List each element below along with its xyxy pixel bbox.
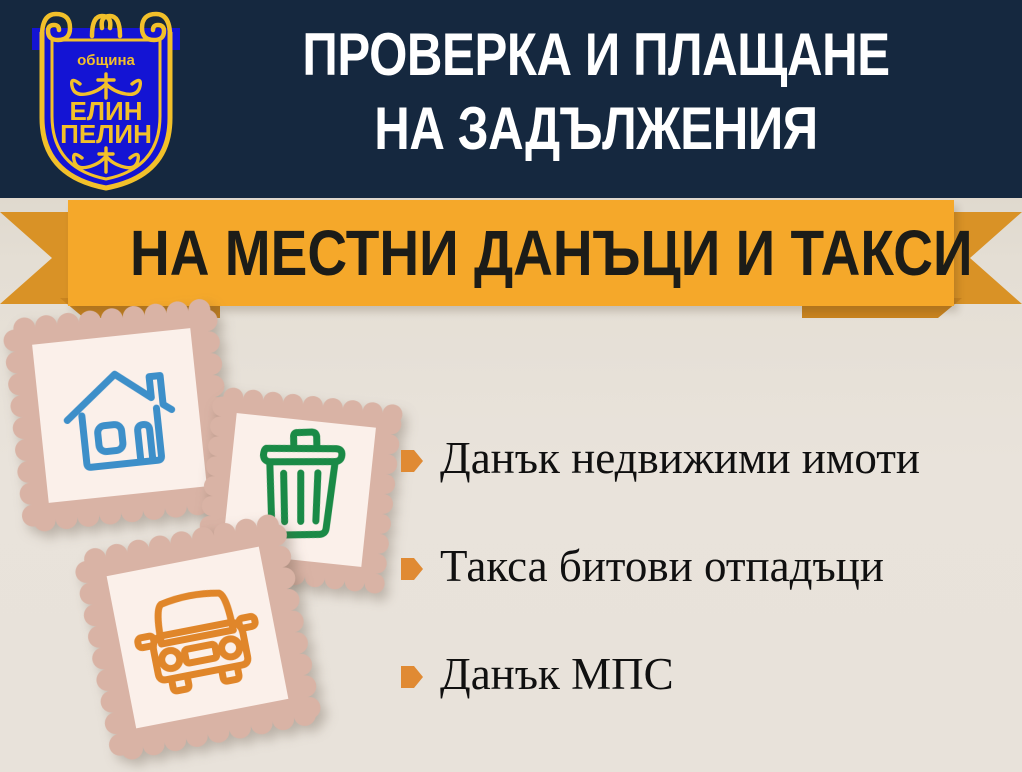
stamp-card-vehicle: [71, 511, 323, 763]
list-item-label: Данък МПС: [440, 642, 674, 706]
ribbon-center-panel: НА МЕСТНИ ДАНЪЦИ И ТАКСИ: [68, 200, 954, 306]
list-item[interactable]: Данък МПС: [400, 642, 1010, 750]
logo-name-line2: ПЕЛИН: [60, 119, 152, 149]
municipality-logo: община ЕЛИН ПЕЛИН: [22, 6, 190, 192]
list-item[interactable]: Данък недвижими имоти: [400, 426, 1010, 534]
arrow-bullet-icon: [400, 664, 424, 690]
list-item-label: Данък недвижими имоти: [440, 426, 920, 490]
page-title: ПРОВЕРКА И ПЛАЩАНЕ НА ЗАДЪЛЖЕНИЯ: [260, 18, 932, 166]
subtitle-ribbon: НА МЕСТНИ ДАНЪЦИ И ТАКСИ: [0, 198, 1022, 318]
page-title-line2: НА ЗАДЪЛЖЕНИЯ: [260, 92, 932, 166]
tax-type-list: Данък недвижими имоти Такса битови отпад…: [400, 426, 1010, 750]
poster-canvas: община ЕЛИН ПЕЛИН ПРОВЕРКА И ПЛАЩАНЕ НА …: [0, 0, 1022, 772]
arrow-bullet-icon: [400, 556, 424, 582]
list-item-label: Такса битови отпадъци: [440, 534, 884, 598]
ribbon-text: НА МЕСТНИ ДАНЪЦИ И ТАКСИ: [130, 214, 892, 292]
page-title-line1: ПРОВЕРКА И ПЛАЩАНЕ: [302, 21, 889, 88]
shield-emblem-icon: община ЕЛИН ПЕЛИН: [22, 6, 190, 192]
arrow-bullet-icon: [400, 448, 424, 474]
stamp-vehicle-graphic: [71, 511, 323, 763]
list-item[interactable]: Такса битови отпадъци: [400, 534, 1010, 642]
logo-label-top: община: [77, 52, 135, 69]
